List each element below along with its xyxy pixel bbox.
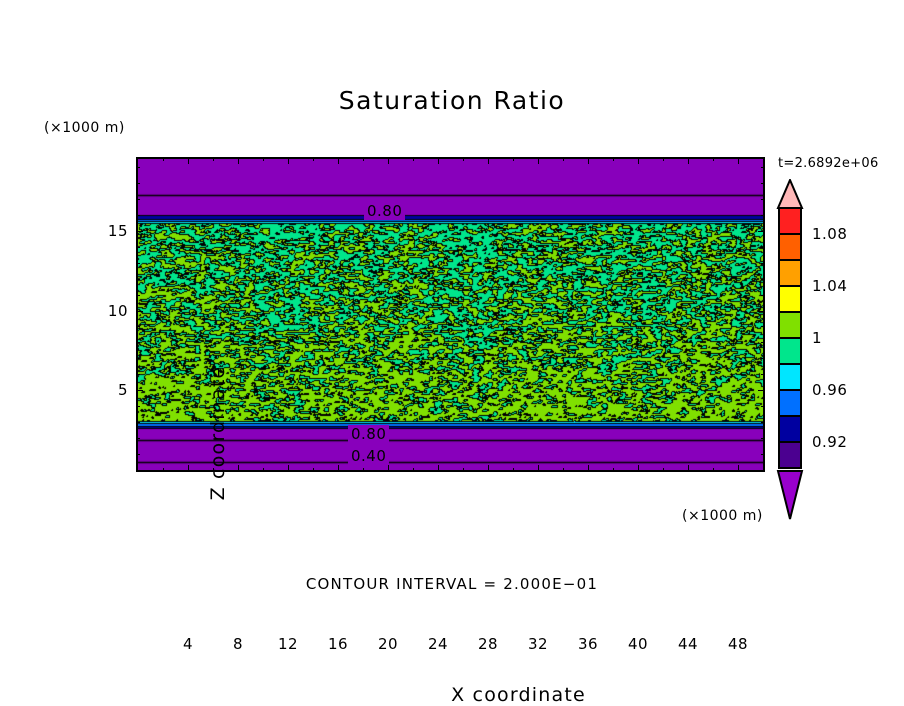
x-minor-tick — [163, 468, 164, 472]
colorbar-tick-label: 1.04 — [812, 277, 847, 295]
y-minor-tick-right — [761, 374, 765, 375]
colorbar-tick-label: 1.08 — [812, 225, 847, 243]
x-minor-tick — [613, 157, 614, 161]
y-tick — [136, 390, 143, 391]
x-minor-tick — [413, 468, 414, 472]
x-tick-label: 4 — [168, 635, 208, 653]
y-minor-tick-right — [761, 326, 765, 327]
x-tick-label: 28 — [468, 635, 508, 653]
y-minor-tick — [136, 215, 140, 216]
timestamp-annotation: t=2.6892e+06 — [778, 156, 879, 171]
colorbar-tick-label: 1 — [812, 329, 822, 347]
x-tick — [288, 465, 289, 472]
colorbar-tick-label: 0.96 — [812, 381, 847, 399]
colorbar-cell — [778, 207, 802, 235]
contour-label: 0.40 — [348, 447, 389, 465]
x-minor-tick — [563, 157, 564, 161]
colorbar-cell — [778, 337, 802, 365]
y-minor-tick-right — [761, 438, 765, 439]
x-tick — [638, 465, 639, 472]
y-minor-tick-right — [761, 183, 765, 184]
x-minor-tick — [663, 468, 664, 472]
y-minor-tick — [136, 295, 140, 296]
y-minor-tick — [136, 422, 140, 423]
y-minor-tick-right — [761, 454, 765, 455]
x-tick-top — [388, 157, 389, 164]
y-tick-right — [758, 311, 765, 312]
contour-label: 0.80 — [348, 425, 389, 443]
colorbar-cell — [778, 233, 802, 261]
x-tick-label: 48 — [718, 635, 758, 653]
x-tick-top — [238, 157, 239, 164]
y-minor-tick — [136, 454, 140, 455]
y-tick-right — [758, 390, 765, 391]
x-tick — [588, 465, 589, 472]
x-minor-tick — [363, 157, 364, 161]
y-minor-tick-right — [761, 167, 765, 168]
colorbar-top-arrow-icon — [776, 179, 804, 209]
colorbar-cell — [778, 259, 802, 287]
colorbar-cell — [778, 363, 802, 391]
x-tick — [438, 465, 439, 472]
x-minor-tick — [313, 157, 314, 161]
y-minor-tick-right — [761, 422, 765, 423]
x-axis-units: (×1000 m) — [682, 508, 763, 524]
y-tick — [136, 231, 143, 232]
x-tick-label: 24 — [418, 635, 458, 653]
y-minor-tick-right — [761, 247, 765, 248]
x-tick-top — [288, 157, 289, 164]
x-minor-tick — [213, 157, 214, 161]
x-tick — [688, 465, 689, 472]
y-tick-label: 15 — [88, 222, 128, 240]
x-minor-tick — [613, 468, 614, 472]
x-minor-tick — [413, 157, 414, 161]
x-tick-label: 44 — [668, 635, 708, 653]
y-minor-tick — [136, 438, 140, 439]
x-tick — [538, 465, 539, 472]
y-minor-tick — [136, 279, 140, 280]
x-minor-tick — [513, 157, 514, 161]
plot-area: 4812162024283236404448 51015 0.800.800.4… — [136, 157, 765, 472]
colorbar-cell — [778, 311, 802, 339]
x-minor-tick — [163, 157, 164, 161]
contour-field — [138, 159, 763, 470]
x-minor-tick — [463, 157, 464, 161]
contour-label: 0.80 — [364, 202, 405, 220]
y-minor-tick — [136, 183, 140, 184]
plot-frame — [136, 157, 765, 472]
x-tick — [738, 465, 739, 472]
x-tick-top — [588, 157, 589, 164]
y-minor-tick — [136, 263, 140, 264]
colorbar-cell — [778, 441, 802, 469]
y-minor-tick-right — [761, 358, 765, 359]
x-minor-tick — [363, 468, 364, 472]
colorbar-bottom-arrow-icon — [776, 469, 804, 521]
y-minor-tick — [136, 167, 140, 168]
y-axis-units: (×1000 m) — [44, 120, 125, 136]
y-minor-tick-right — [761, 342, 765, 343]
y-tick-label: 5 — [88, 381, 128, 399]
x-minor-tick — [263, 468, 264, 472]
colorbar-tick-label: 0.92 — [812, 433, 847, 451]
y-tick-label: 10 — [88, 302, 128, 320]
x-minor-tick — [313, 468, 314, 472]
y-minor-tick-right — [761, 279, 765, 280]
x-minor-tick — [513, 468, 514, 472]
x-tick — [488, 465, 489, 472]
y-minor-tick-right — [761, 215, 765, 216]
x-tick-label: 16 — [318, 635, 358, 653]
x-tick-top — [638, 157, 639, 164]
x-tick-label: 36 — [568, 635, 608, 653]
x-tick-label: 40 — [618, 635, 658, 653]
x-tick-top — [538, 157, 539, 164]
x-tick-top — [488, 157, 489, 164]
x-tick — [188, 465, 189, 472]
y-minor-tick — [136, 374, 140, 375]
x-tick-top — [438, 157, 439, 164]
x-tick-top — [188, 157, 189, 164]
y-minor-tick-right — [761, 263, 765, 264]
x-tick — [338, 465, 339, 472]
y-minor-tick-right — [761, 406, 765, 407]
x-minor-tick — [663, 157, 664, 161]
x-minor-tick — [463, 468, 464, 472]
y-minor-tick — [136, 326, 140, 327]
x-tick-top — [738, 157, 739, 164]
page-title: Saturation Ratio — [0, 86, 904, 115]
x-minor-tick — [713, 468, 714, 472]
x-tick-top — [338, 157, 339, 164]
x-tick-label: 20 — [368, 635, 408, 653]
y-minor-tick-right — [761, 295, 765, 296]
y-axis-title: Z coordinate — [207, 333, 229, 533]
colorbar-cell — [778, 415, 802, 443]
x-tick-top — [688, 157, 689, 164]
y-minor-tick — [136, 358, 140, 359]
x-minor-tick — [263, 157, 264, 161]
colorbar-cell — [778, 285, 802, 313]
x-tick-label: 32 — [518, 635, 558, 653]
x-tick-label: 8 — [218, 635, 258, 653]
x-axis-title: X coordinate — [136, 684, 901, 706]
colorbar-cell — [778, 389, 802, 417]
x-minor-tick — [563, 468, 564, 472]
y-minor-tick-right — [761, 199, 765, 200]
y-minor-tick — [136, 406, 140, 407]
y-tick — [136, 311, 143, 312]
y-minor-tick — [136, 199, 140, 200]
y-minor-tick — [136, 247, 140, 248]
x-tick-label: 12 — [268, 635, 308, 653]
y-tick-right — [758, 231, 765, 232]
y-minor-tick — [136, 342, 140, 343]
x-tick — [388, 465, 389, 472]
contour-interval-note: CONTOUR INTERVAL = 2.000E−01 — [0, 575, 904, 593]
x-minor-tick — [713, 157, 714, 161]
x-tick — [238, 465, 239, 472]
